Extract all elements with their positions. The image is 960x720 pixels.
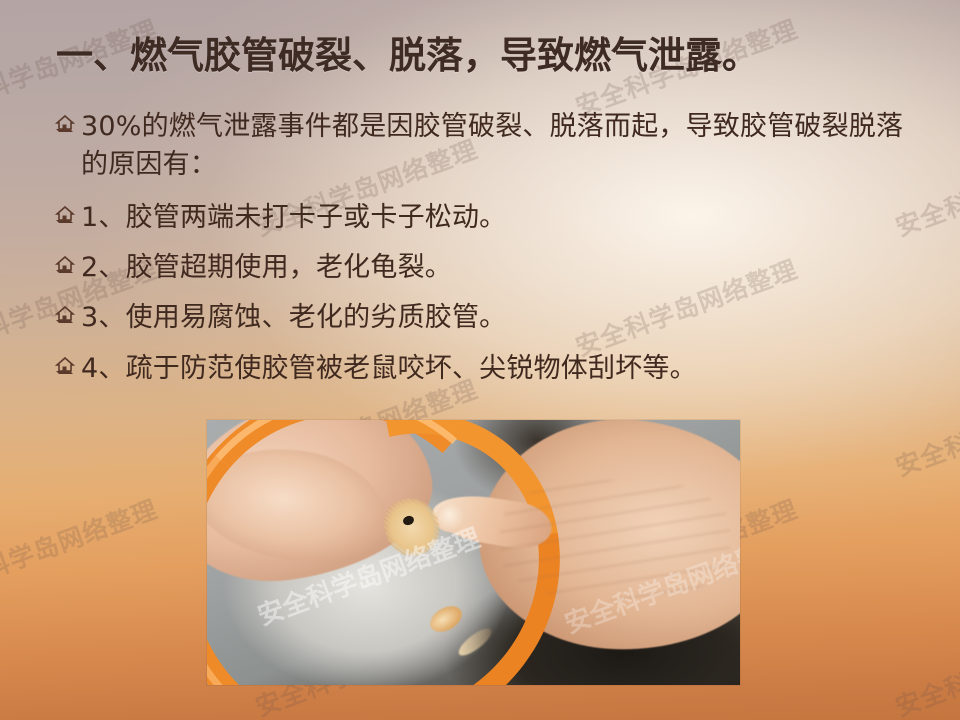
watermark-text: 安全科学岛网络整理 bbox=[890, 0, 960, 4]
list-item-label: 3、使用易腐蚀、老化的劣质胶管。 bbox=[81, 299, 934, 337]
watermark-text: 安全科学岛网络整理 bbox=[890, 610, 960, 720]
house-bullet-icon bbox=[54, 254, 76, 284]
list-item: 4、疏于防范使胶管被老鼠咬坏、尖锐物体刮坏等。 bbox=[54, 350, 934, 388]
list-item: 3、使用易腐蚀、老化的劣质胶管。 bbox=[54, 299, 934, 337]
list-item-label: 4、疏于防范使胶管被老鼠咬坏、尖锐物体刮坏等。 bbox=[81, 350, 934, 388]
presentation-slide: 安全科学岛网络整理 安全科学岛网络整理 安全科学岛网络整理 安全科学岛网络整理 … bbox=[0, 0, 960, 720]
bullet-list: 30%的燃气泄露事件都是因胶管破裂、脱落而起，导致胶管破裂脱落的原因有： 1、胶… bbox=[54, 108, 934, 400]
list-item-label: 1、胶管两端未打卡子或卡子松动。 bbox=[81, 199, 934, 237]
list-item: 30%的燃气泄露事件都是因胶管破裂、脱落而起，导致胶管破裂脱落的原因有： bbox=[54, 108, 934, 185]
house-bullet-icon bbox=[54, 113, 76, 143]
list-item-label: 2、胶管超期使用，老化龟裂。 bbox=[81, 249, 934, 287]
watermark-text: 安全科学岛网络整理 bbox=[250, 0, 482, 4]
watermark-text: 安全科学岛网络整理 bbox=[0, 490, 162, 604]
slide-title: 一、燃气胶管破裂、脱落，导致燃气泄露。 bbox=[56, 36, 759, 77]
list-item: 2、胶管超期使用，老化龟裂。 bbox=[54, 249, 934, 287]
hose-damage-photo: 安全科学岛网络整理 安全科学岛网络整理 bbox=[207, 420, 740, 685]
list-item: 1、胶管两端未打卡子或卡子松动。 bbox=[54, 199, 934, 237]
list-item-label: 30%的燃气泄露事件都是因胶管破裂、脱落而起，导致胶管破裂脱落的原因有： bbox=[81, 108, 921, 185]
house-bullet-icon bbox=[54, 355, 76, 385]
house-bullet-icon bbox=[54, 304, 76, 334]
house-bullet-icon bbox=[54, 204, 76, 234]
photo-inner: 安全科学岛网络整理 安全科学岛网络整理 bbox=[207, 420, 740, 685]
